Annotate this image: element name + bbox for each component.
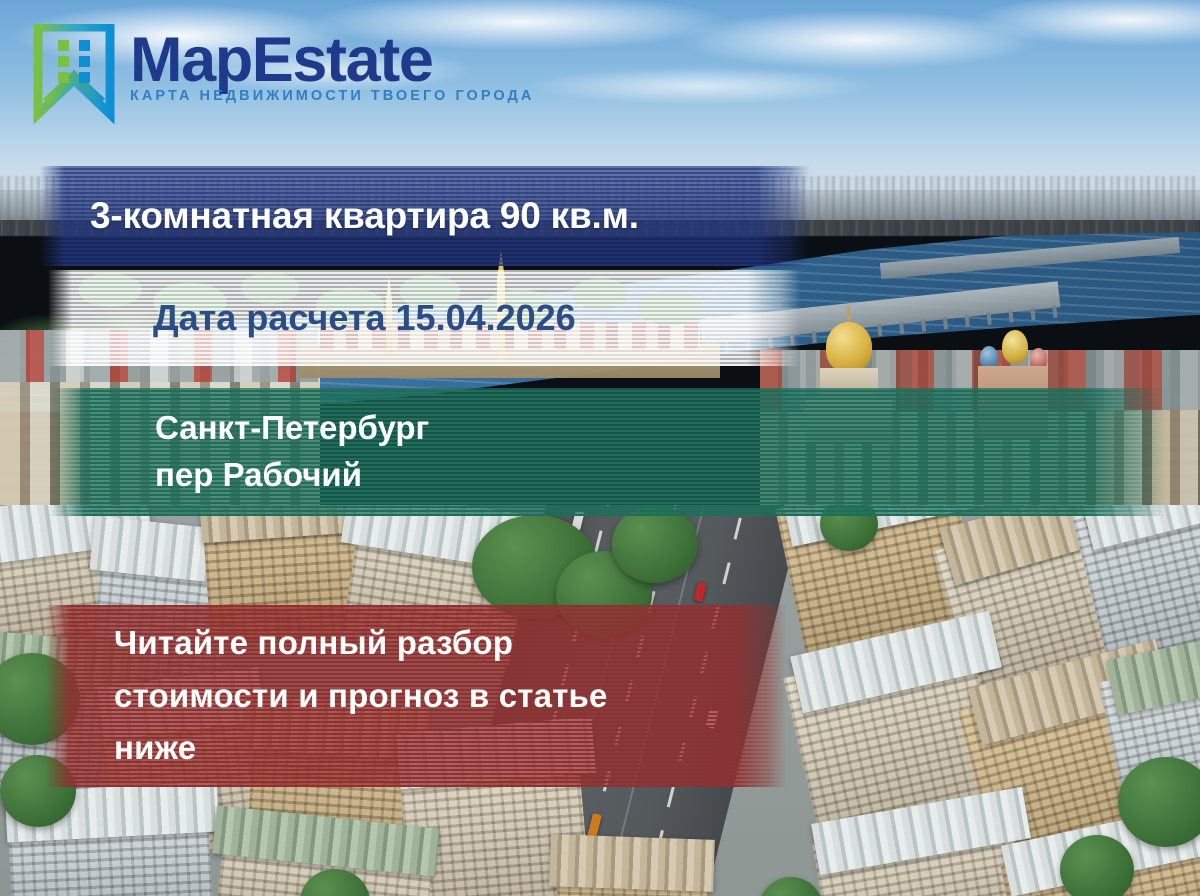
cta-line-1: Читайте полный разбор	[114, 617, 786, 670]
cta-line-3: ниже	[114, 722, 786, 775]
brand-text: MapEstate КАРТА НЕДВИЖИМОСТИ ТВОЕГО ГОРО…	[130, 24, 534, 104]
calculation-date-banner: Дата расчета 15.04.2026	[48, 270, 800, 366]
cta-banner[interactable]: Читайте полный разбор стоимости и прогно…	[46, 605, 786, 787]
brand-tagline: КАРТА НЕДВИЖИМОСТИ ТВОЕГО ГОРОДА	[130, 88, 534, 104]
promo-card: MapEstate КАРТА НЕДВИЖИМОСТИ ТВОЕГО ГОРО…	[0, 0, 1200, 896]
brand-logo[interactable]: MapEstate КАРТА НЕДВИЖИМОСТИ ТВОЕГО ГОРО…	[32, 24, 534, 124]
map-pin-building-icon	[32, 24, 116, 124]
calculation-date-text: Дата расчета 15.04.2026	[48, 298, 800, 338]
address-text-group: Санкт-Петербург пер Рабочий	[50, 405, 1165, 499]
property-title-text: 3-комнатная квартира 90 кв.м.	[40, 196, 810, 237]
address-street: пер Рабочий	[155, 452, 1165, 499]
cta-line-2: стоимости и прогноз в статье	[114, 670, 786, 723]
brand-wordmark: MapEstate	[130, 30, 534, 90]
address-banner: Санкт-Петербург пер Рабочий	[50, 388, 1165, 516]
property-title-banner: 3-комнатная квартира 90 кв.м.	[40, 166, 810, 266]
cta-text-group: Читайте полный разбор стоимости и прогно…	[46, 617, 786, 775]
address-city: Санкт-Петербург	[155, 405, 1165, 452]
